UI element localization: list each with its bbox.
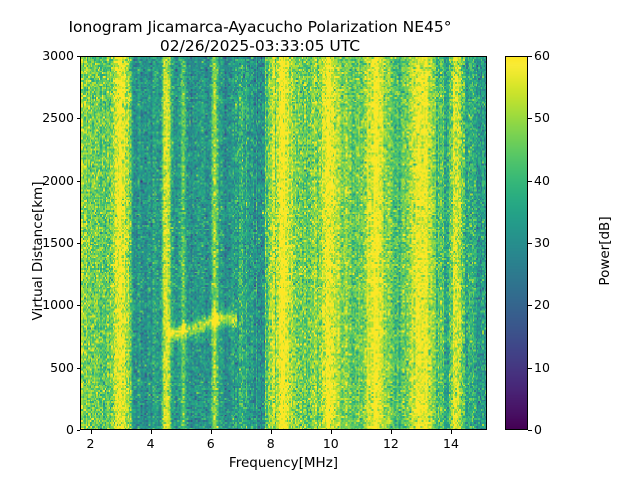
y-axis-tick-label: 2500: [42, 110, 74, 125]
x-axis-label: Frequency[MHz]: [80, 455, 487, 471]
x-axis-tick: [271, 430, 272, 434]
colorbar-tick: [528, 368, 532, 369]
colorbar-tick: [528, 430, 532, 431]
x-axis-tick-label: 10: [311, 436, 351, 451]
colorbar-tick: [528, 56, 532, 57]
colorbar-tick-label: 0: [534, 422, 542, 437]
x-axis-tick: [211, 430, 212, 434]
colorbar-tick-label: 20: [534, 297, 550, 312]
y-axis-tick: [77, 430, 81, 431]
colorbar-tick-label: 10: [534, 360, 550, 375]
colorbar-tick: [528, 118, 532, 119]
ionogram-figure: Ionogram Jicamarca-Ayacucho Polarization…: [0, 0, 640, 480]
x-axis-tick: [451, 430, 452, 434]
figure-title: Ionogram Jicamarca-Ayacucho Polarization…: [0, 18, 520, 56]
x-axis-tick-label: 8: [251, 436, 291, 451]
y-axis-tick-label: 3000: [42, 48, 74, 63]
colorbar-tick: [528, 181, 532, 182]
x-axis-tick: [331, 430, 332, 434]
y-axis-tick-label: 500: [50, 360, 74, 375]
colorbar-gradient: [506, 57, 527, 429]
colorbar-label: Power[dB]: [597, 151, 613, 351]
y-axis-tick: [77, 56, 81, 57]
colorbar-tick: [528, 243, 532, 244]
colorbar-tick-label: 50: [534, 110, 550, 125]
x-axis-tick: [91, 430, 92, 434]
y-axis-tick: [77, 243, 81, 244]
x-axis-tick-label: 2: [71, 436, 111, 451]
y-axis-tick-label: 1500: [42, 235, 74, 250]
title-line-1: Ionogram Jicamarca-Ayacucho Polarization…: [0, 18, 520, 37]
x-axis-tick-label: 6: [191, 436, 231, 451]
x-axis-tick-label: 12: [371, 436, 411, 451]
colorbar-tick: [528, 305, 532, 306]
colorbar: [505, 56, 528, 430]
x-axis-tick: [151, 430, 152, 434]
x-axis-tick-label: 4: [131, 436, 171, 451]
y-axis-tick: [77, 181, 81, 182]
x-axis-tick: [391, 430, 392, 434]
ionogram-heatmap: [81, 57, 486, 429]
y-axis-tick: [77, 118, 81, 119]
y-axis-tick: [77, 368, 81, 369]
colorbar-tick-label: 30: [534, 235, 550, 250]
colorbar-tick-label: 40: [534, 173, 550, 188]
colorbar-tick-label: 60: [534, 48, 550, 63]
y-axis-tick-label: 2000: [42, 173, 74, 188]
y-axis-tick: [77, 305, 81, 306]
x-axis-tick-label: 14: [431, 436, 471, 451]
title-line-2: 02/26/2025-03:33:05 UTC: [0, 37, 520, 56]
y-axis-tick-label: 1000: [42, 297, 74, 312]
heatmap-axes: [80, 56, 487, 430]
y-axis-tick-label: 0: [66, 422, 74, 437]
